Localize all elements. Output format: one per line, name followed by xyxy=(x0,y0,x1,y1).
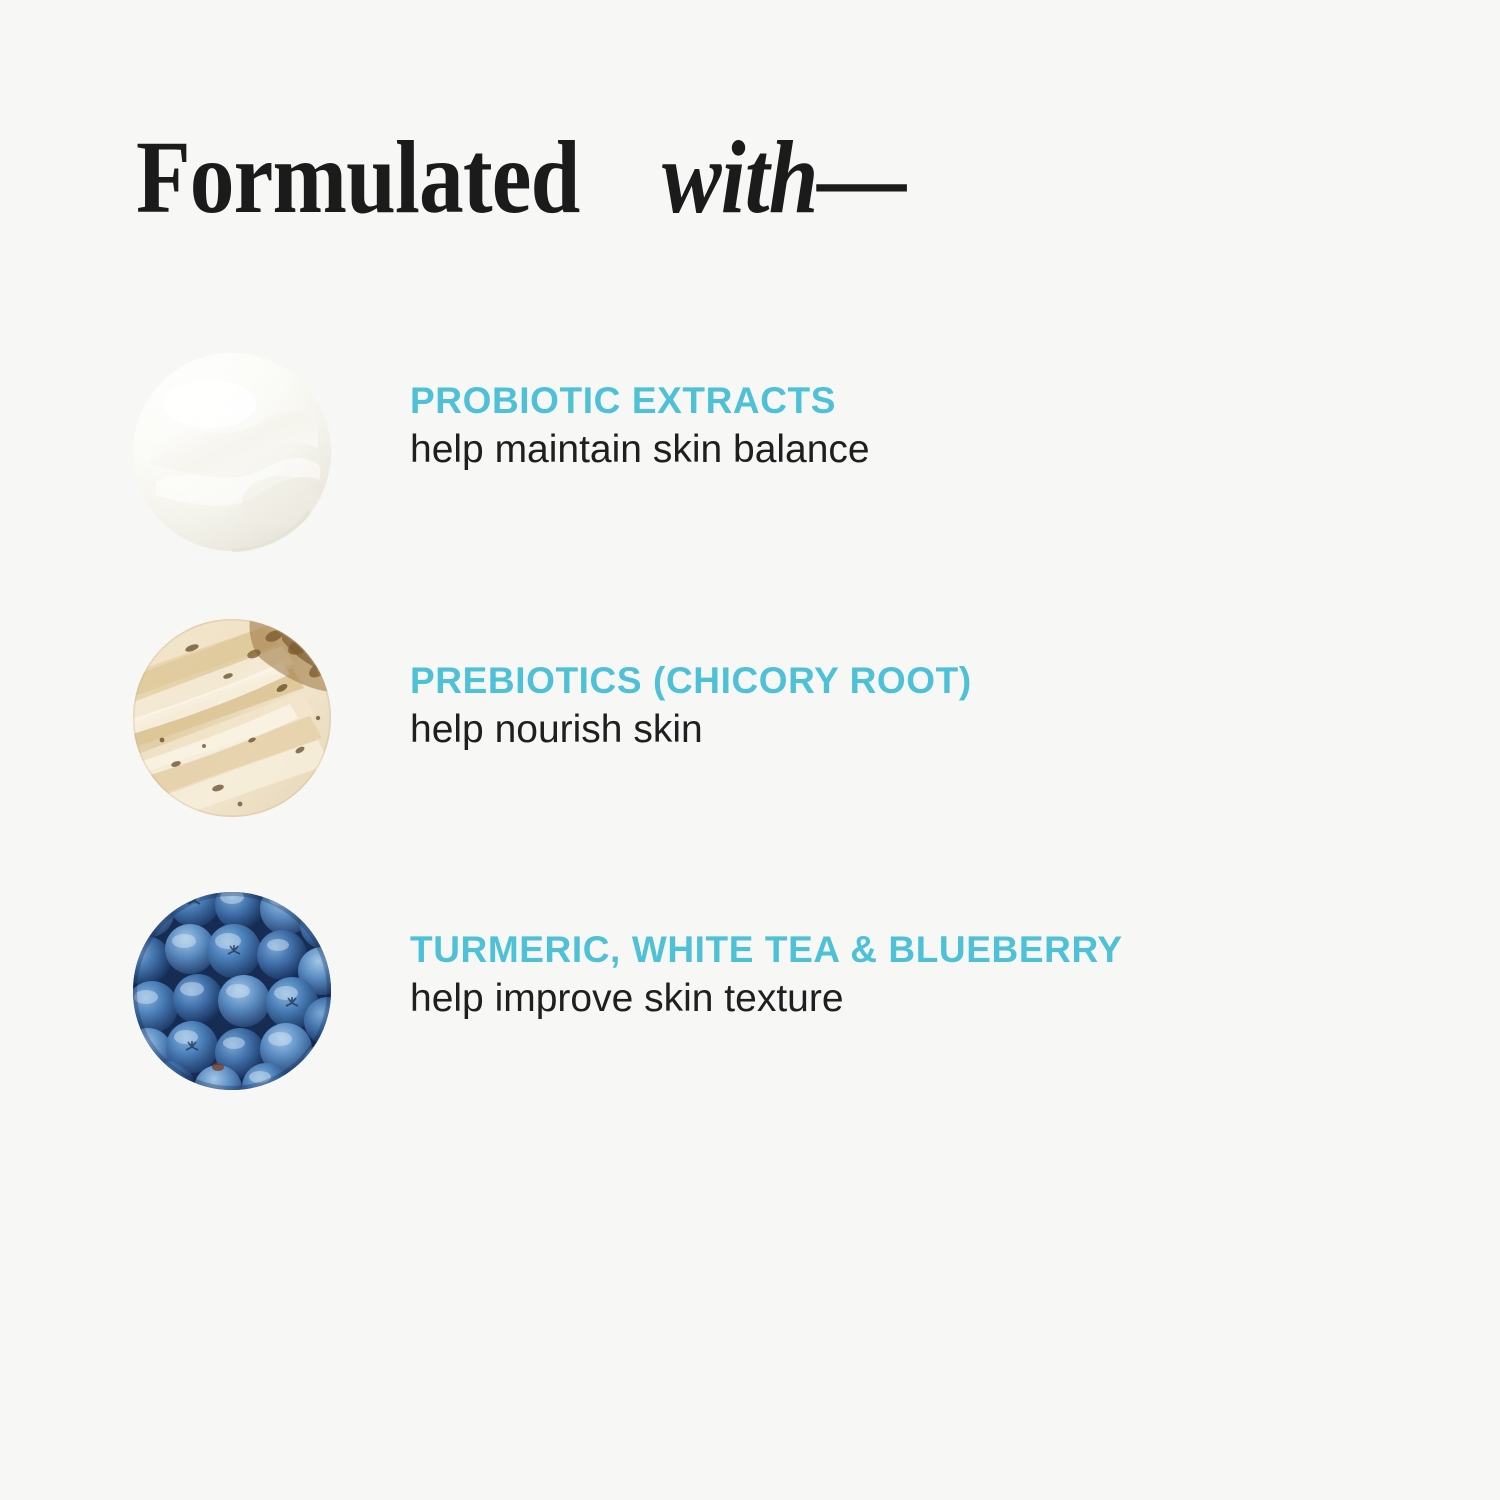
ingredient-title: TURMERIC, WHITE TEA & BLUEBERRY xyxy=(410,929,1310,972)
cream-swatch-image xyxy=(132,352,332,552)
ingredient-copy: PROBIOTIC EXTRACTS help maintain skin ba… xyxy=(410,380,1310,473)
blueberries-image xyxy=(132,891,332,1091)
ingredient-description: help maintain skin balance xyxy=(410,427,1310,474)
ingredient-copy: TURMERIC, WHITE TEA & BLUEBERRY help imp… xyxy=(410,929,1310,1022)
ingredient-description: help nourish skin xyxy=(410,707,1310,754)
ingredient-copy: PREBIOTICS (CHICORY ROOT) help nourish s… xyxy=(410,660,1310,753)
ingredient-description: help improve skin texture xyxy=(410,976,1310,1023)
ingredient-title: PREBIOTICS (CHICORY ROOT) xyxy=(410,660,1310,703)
ingredient-title: PROBIOTIC EXTRACTS xyxy=(410,380,1310,423)
ingredient-list: PROBIOTIC EXTRACTS help maintain skin ba… xyxy=(0,0,1500,1500)
chicory-root-image xyxy=(132,618,332,818)
ingredient-infographic: Formulatedwith— xyxy=(0,0,1500,1500)
